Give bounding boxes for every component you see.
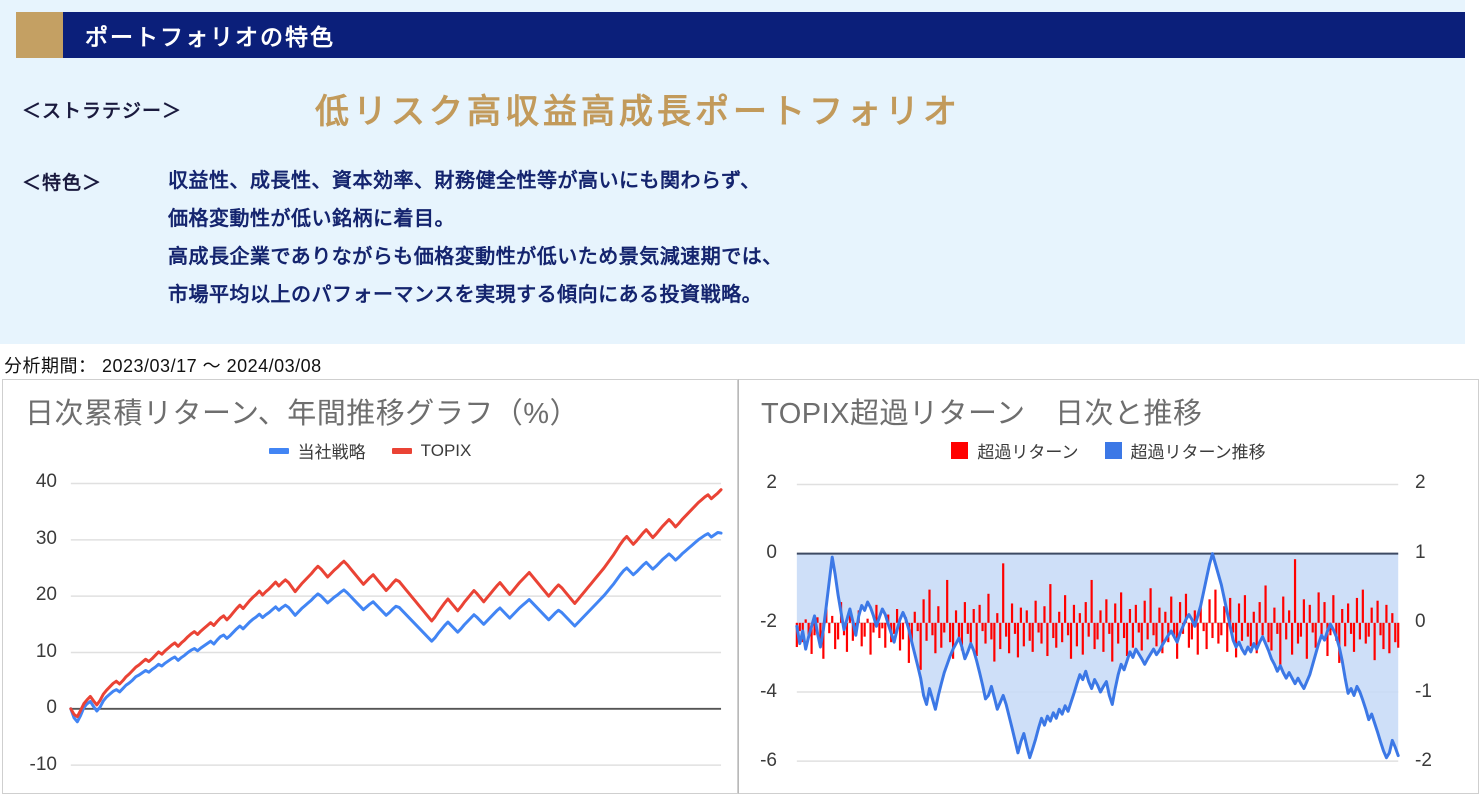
- cumulative-return-plot: [3, 380, 737, 793]
- charts-container: 日次累積リターン、年間推移グラフ（%） 当社戦略 TOPIX 403020100…: [2, 379, 1479, 794]
- axis-tick-label: 20: [36, 584, 57, 606]
- axis-tick-label: 2: [1415, 472, 1426, 494]
- feature-line-3: 高成長企業でありながらも価格変動性が低いため景気減速期では、: [168, 238, 783, 276]
- portfolio-info-panel: ポートフォリオの特色 ＜ストラテジー＞ 低リスク高収益高成長ポートフォリオ ＜特…: [0, 0, 1465, 344]
- banner-accent-block: [16, 12, 63, 58]
- axis-tick-label: 0: [766, 542, 777, 564]
- axis-tick-label: 40: [36, 471, 57, 493]
- axis-tick-label: -10: [30, 754, 57, 776]
- strategy-title: 低リスク高収益高成長ポートフォリオ: [315, 84, 961, 133]
- section-banner: ポートフォリオの特色: [16, 12, 1465, 58]
- feature-label: ＜特色＞: [22, 168, 102, 195]
- strategy-label: ＜ストラテジー＞: [22, 96, 182, 123]
- axis-tick-label: 10: [36, 641, 57, 663]
- axis-tick-label: -4: [760, 681, 777, 703]
- axis-tick-label: -6: [760, 750, 777, 772]
- axis-tick-label: 2: [766, 472, 777, 494]
- axis-tick-label: 0: [46, 697, 57, 719]
- excess-return-panel: TOPIX超過リターン 日次と推移 超過リターン 超過リターン推移 20-2-4…: [738, 379, 1479, 794]
- axis-tick-label: -2: [760, 611, 777, 633]
- axis-tick-label: 30: [36, 528, 57, 550]
- cumulative-return-panel: 日次累積リターン、年間推移グラフ（%） 当社戦略 TOPIX 403020100…: [2, 379, 738, 794]
- analysis-period: 分析期間： 2023/03/17 〜 2024/03/08: [4, 352, 322, 378]
- feature-line-1: 収益性、成長性、資本効率、財務健全性等が高いにも関わらず、: [168, 162, 783, 200]
- banner-title: ポートフォリオの特色: [63, 18, 335, 52]
- axis-tick-label: -1: [1415, 681, 1432, 703]
- banner-bar: ポートフォリオの特色: [63, 12, 1465, 58]
- axis-tick-label: -2: [1415, 750, 1432, 772]
- feature-text: 収益性、成長性、資本効率、財務健全性等が高いにも関わらず、 価格変動性が低い銘柄…: [168, 162, 783, 314]
- strategy-row: ＜ストラテジー＞ 低リスク高収益高成長ポートフォリオ: [0, 88, 1465, 136]
- axis-tick-label: 0: [1415, 611, 1426, 633]
- excess-return-plot: [739, 380, 1478, 793]
- axis-tick-label: 1: [1415, 542, 1426, 564]
- feature-line-4: 市場平均以上のパフォーマンスを実現する傾向にある投資戦略。: [168, 276, 783, 314]
- feature-line-2: 価格変動性が低い銘柄に着目。: [168, 200, 783, 238]
